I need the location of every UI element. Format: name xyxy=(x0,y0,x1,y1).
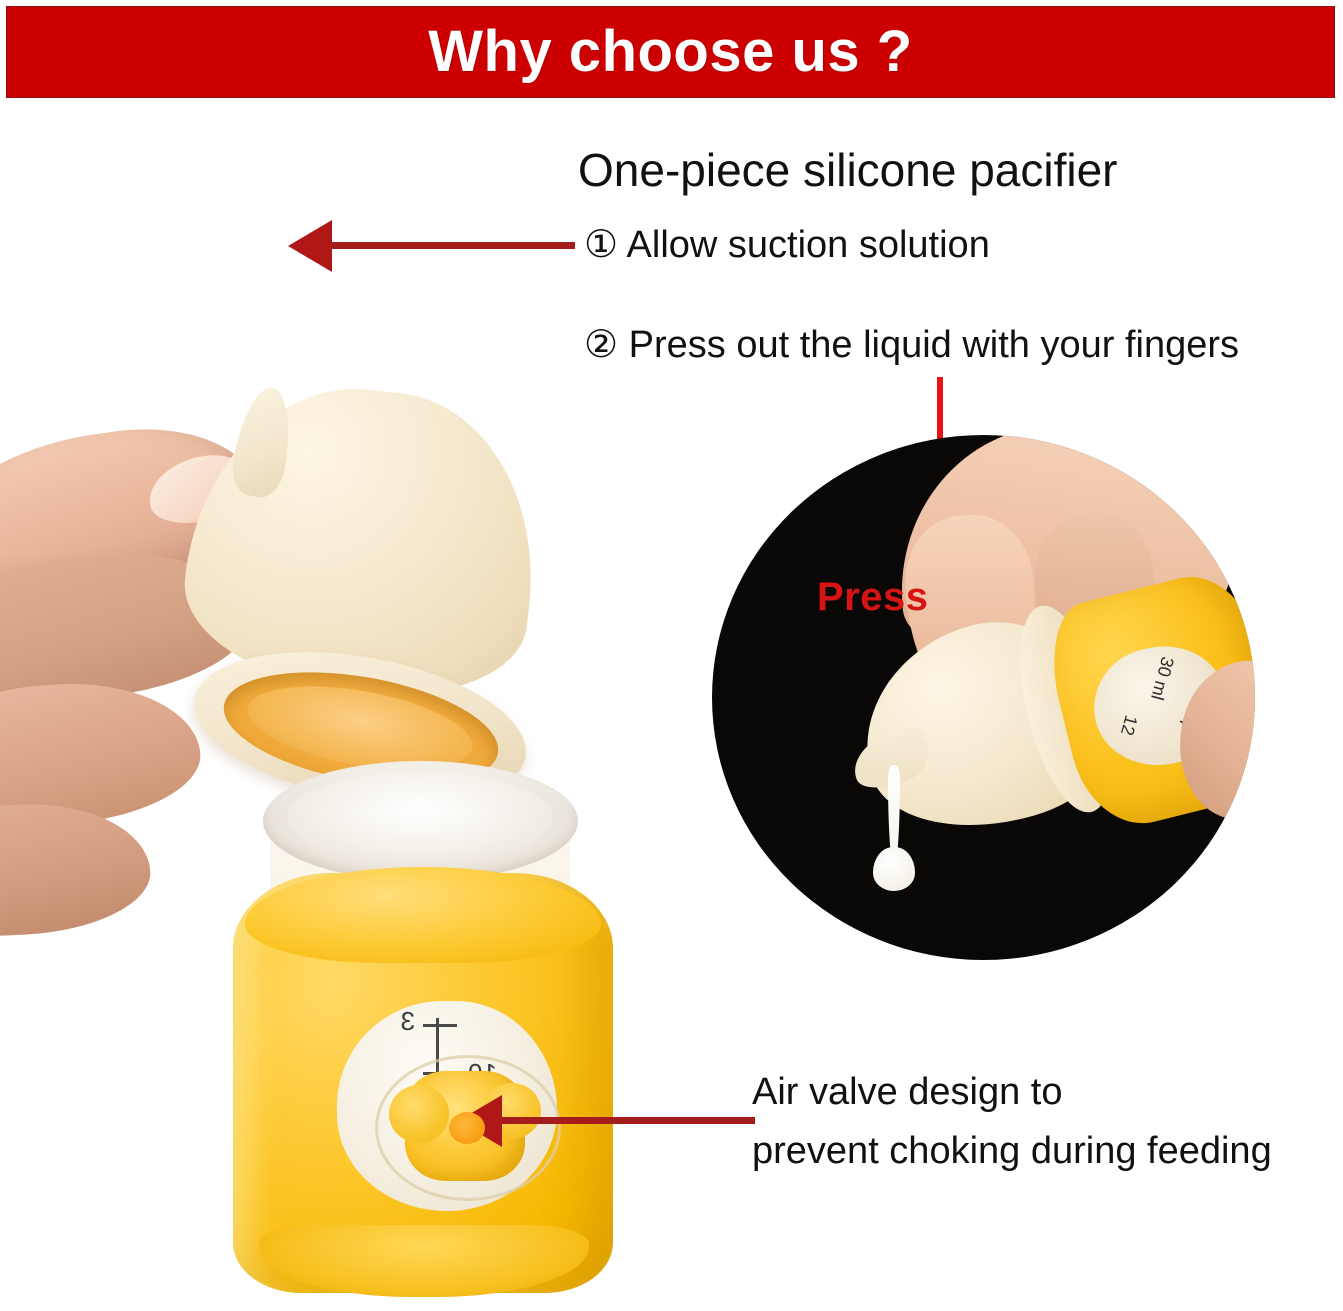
air-valve-center xyxy=(449,1112,485,1144)
inset-scale-mark-2: 12 xyxy=(1116,713,1141,738)
bottle-photo: 3 10 5 xyxy=(225,755,625,1300)
headline-text: One-piece silicone pacifier xyxy=(578,143,1118,197)
milk-droplet xyxy=(873,847,915,891)
bullet-item-2: ② Press out the liquid with your fingers xyxy=(584,322,1239,367)
scale-label-3: 3 xyxy=(401,1006,415,1037)
infographic-page: Why choose us ? One-piece silicone pacif… xyxy=(0,0,1343,1311)
press-demo-inset: 30 ml 4 12 Press xyxy=(712,435,1255,960)
air-valve-caption-line-1: Air valve design to xyxy=(752,1063,1272,1122)
scale-tick-1 xyxy=(423,1024,457,1027)
arrow-left-icon-air-valve xyxy=(500,1117,755,1124)
header-banner: Why choose us ? xyxy=(6,6,1335,98)
air-valve-caption-line-2: prevent choking during feeding xyxy=(752,1122,1272,1181)
press-label: Press xyxy=(817,575,928,620)
page-title: Why choose us ? xyxy=(428,23,912,81)
bullet-item-1: ① Allow suction solution xyxy=(584,222,990,267)
bottle-neck-opening xyxy=(287,771,553,863)
hand-finger-fourth xyxy=(0,798,153,942)
air-valve-caption: Air valve design to prevent choking duri… xyxy=(752,1063,1272,1181)
arrow-left-icon-pacifier xyxy=(330,242,575,249)
pacifier-photo xyxy=(0,185,600,805)
inset-scale-mark-0: 30 ml xyxy=(1146,654,1178,702)
